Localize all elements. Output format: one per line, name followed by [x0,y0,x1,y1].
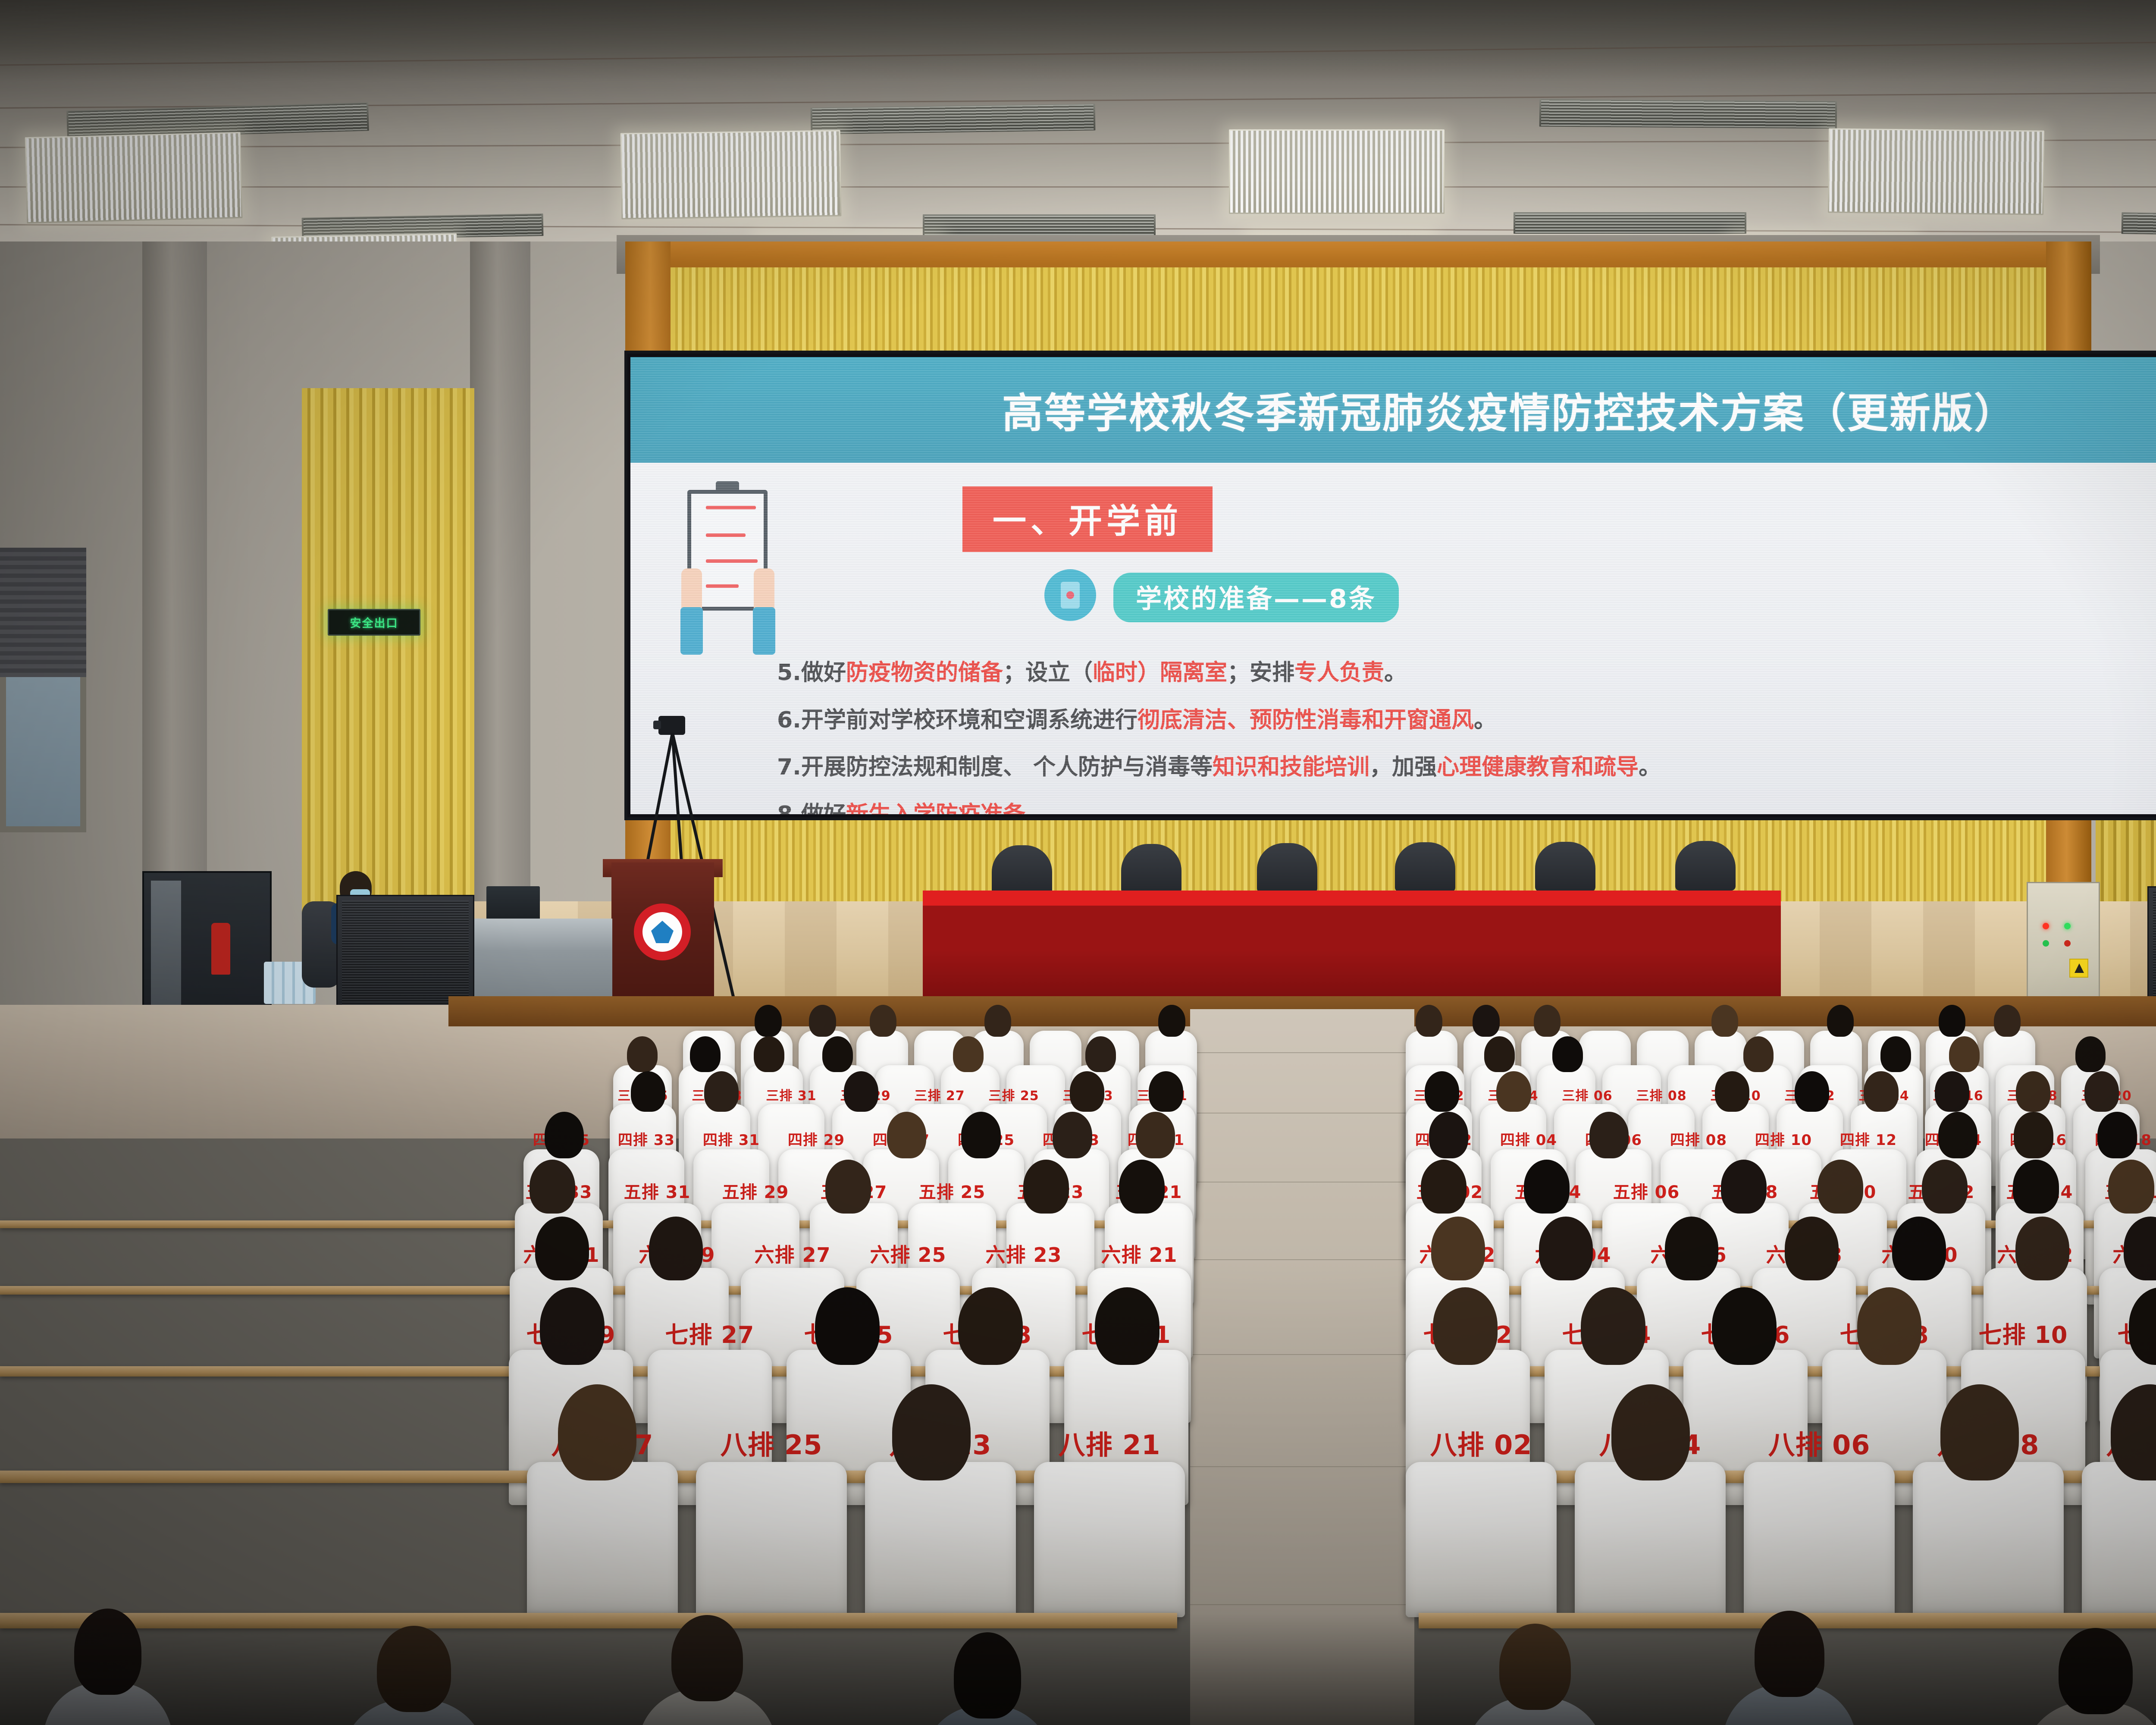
audience-member-head [2097,1112,2137,1159]
audience-member-head [1539,1217,1593,1280]
seat-number-label: 五排 25 [919,1178,986,1203]
ceiling-light [620,130,842,219]
audience-member-head [1589,1112,1629,1159]
audience-member-head [961,1112,1001,1159]
audience-member-head [754,1036,784,1073]
audience-member-head [1136,1112,1175,1159]
audience-member-head [1552,1036,1583,1073]
slide-bullet: 8.做好新生入学防疫准备。 [777,801,2156,814]
head-table-chair [1675,841,1736,891]
seat-number-label: 四排 29 [788,1128,845,1149]
audience-seat[interactable]: 八排 25 [696,1462,847,1617]
audience-member-head [892,1384,971,1480]
seat-number-label: 八排 06 [1768,1423,1871,1462]
slide-bullet-highlight: 临时）隔离室 [1093,660,1227,686]
audience-member-head [2014,1112,2053,1159]
seat-number-label: 五排 31 [624,1178,691,1203]
slide-bullet-text: ；安排 [1227,660,1294,686]
seat-number-label: 三排 31 [766,1085,816,1104]
seat-number-label: 三排 25 [988,1085,1039,1104]
seat-number-label: 三排 06 [1562,1085,1612,1104]
audience-member-head [1743,1036,1774,1073]
audience-member-head [1473,1005,1499,1037]
audience-member-head [690,1036,721,1073]
clipboard-line [706,559,758,563]
left-window-shade [0,548,86,677]
slide-bullet-highlight: 防疫物资的储备 [846,660,1003,686]
audience-member-head [1425,1071,1459,1112]
slide-bullet: 5.做好防疫物资的储备；设立（临时）隔离室；安排专人负责。 [777,659,2156,687]
audience-member-head [1935,1071,1969,1112]
audience-member-head [1611,1384,1690,1480]
audience-member-head [809,1005,836,1037]
audience-member-head [649,1217,703,1280]
seat-number-label: 四排 08 [1670,1128,1727,1149]
slide-bullet-highlight: 专人负责 [1294,660,1384,686]
audience-member-head [2084,1071,2119,1112]
audience-member-head [2108,1160,2154,1214]
audience-member-head [1416,1005,1442,1037]
slide-bullet-text: 做好 [801,660,846,686]
head-table [923,891,1781,998]
audience-member-head [1949,1036,1980,1073]
ceiling-vent [923,214,1156,236]
seat-number-label: 四排 12 [1840,1128,1897,1149]
audience-member-head [1431,1217,1485,1280]
audience-member-head [1023,1160,1069,1214]
audience-member-head [1785,1217,1839,1280]
audience-member-head [631,1071,665,1112]
audience-seat[interactable]: 八排 10 [2082,1462,2156,1617]
audience-member-head [1864,1071,1898,1112]
head-table-chair [1535,842,1595,891]
seat-number-label: 五排 29 [722,1178,789,1203]
audience-member-head [815,1287,880,1365]
audience-member-head [887,1112,927,1159]
seat-number-label: 四排 04 [1500,1128,1557,1149]
audience-member-head [1715,1071,1749,1112]
seat-number-label: 五排 06 [1613,1178,1680,1203]
audience-member-head [1524,1160,1570,1214]
audience-member-head [1994,1005,2021,1037]
audience-seat[interactable]: 八排 08 [1913,1462,2064,1617]
audience-member-head [825,1160,871,1214]
seat-number-label: 七排 27 [665,1316,755,1350]
audience-seat[interactable]: 八排 06 [1744,1462,1895,1617]
ceiling-light [1828,128,2044,215]
seat-number-label: 六排 25 [870,1239,946,1268]
slide-bullet-text: 开展防控法规和制度、 个人防护与消毒等 [801,754,1213,780]
head-table-chair [992,845,1052,895]
audience-member-head [1085,1036,1116,1073]
stage-backdrop-left [302,388,474,919]
electrical-hazard-icon [2069,959,2088,978]
clipboard-line [706,533,746,537]
slide-subsection-tag: 学校的准备——8条 [1113,573,1399,622]
audience-member-head [1095,1287,1159,1365]
slide-bullet-number: 6. [777,707,801,733]
ceiling [0,0,2156,254]
clipboard-illustration-icon [678,478,777,650]
exit-sign-left-label: 安全出口 [350,615,398,630]
audience-member-head [1119,1160,1165,1214]
seat-number-label: 四排 10 [1755,1128,1812,1149]
audience-member-head [535,1217,589,1280]
presentation-slide: 高等学校秋冬季新冠肺炎疫情防控技术方案（更新版） 一、开学前 学校的准备——8条… [630,357,2156,814]
seat-number-label: 七排 10 [1979,1316,2068,1350]
audience-member-head [1857,1287,1922,1365]
head-table-chair [1395,842,1455,892]
audience-member-head [844,1071,878,1112]
indicator-led-red [2043,923,2049,929]
seat-number-label: 八排 02 [1430,1423,1532,1462]
seat-number-label: 六排 21 [1101,1239,1177,1268]
ceiling-light [25,132,243,223]
seat-number-label: 八排 25 [721,1423,823,1462]
ceiling-vent [1539,99,1837,129]
audience-member-head [1053,1112,1092,1159]
seat-number-label: 三排 27 [914,1085,965,1104]
slide-title-bar: 高等学校秋冬季新冠肺炎疫情防控技术方案（更新版） [630,357,2156,463]
audience-member-head [1712,1287,1777,1365]
first-aid-kit-icon [1044,569,1096,621]
ceiling-shadow [0,0,2156,82]
audience-member-head [1892,1217,1946,1280]
foreground-shadow [0,1613,2156,1725]
slide-bullet-text: 。 [1384,660,1407,686]
audience-member-head [2013,1160,2059,1214]
audience-member-head [1496,1071,1531,1112]
audience-member-head [1534,1005,1561,1037]
slide-bullet-text: ；设立（ [1003,660,1093,686]
audience-member-head [530,1160,575,1214]
audience-seat[interactable]: 八排 02 [1406,1462,1557,1617]
audience-seat[interactable]: 八排 21 [1034,1462,1185,1617]
clipboard-line [706,584,739,588]
ceiling-light [1229,129,1445,214]
audience-member-head [958,1287,1023,1365]
slide-bullet-text: ，加强 [1369,754,1437,780]
exit-sign-left: 安全出口 [328,609,420,636]
slide-bullet-highlight: 知识和技能培训 [1213,754,1369,780]
slide-bullet-highlight: 新生入学防疫准备 [846,802,1025,814]
ceiling-vent [1514,212,1746,234]
audience-member-head [1149,1071,1183,1112]
video-camera-icon [658,716,685,735]
slide-bullet-highlight: 彻底清洁、预防性消毒和开窗通风 [1138,707,1474,733]
audience-member-head [1880,1036,1911,1073]
audience-member-head [1070,1071,1104,1112]
audience-member-head [984,1005,1011,1037]
indicator-led-red [2064,940,2071,947]
audience-member-head [1795,1071,1829,1112]
slide-bullet-number: 7. [777,754,801,780]
slide-bullet-text: 。 [1474,707,1496,733]
fire-extinguisher-icon [211,923,230,975]
audience-seat[interactable]: 八排 27 [527,1462,678,1617]
audience-member-head [1433,1287,1498,1365]
audience-member-head [1484,1036,1515,1073]
head-table-chair [1121,844,1181,894]
indicator-led-green [2043,940,2049,947]
audience-member-head [1721,1160,1767,1214]
slide-bullet-text: 开学前对学校环境和空调系统进行 [801,707,1138,733]
audience-member-head [953,1036,984,1073]
seat-number-label: 八排 21 [1059,1423,1161,1462]
slide-bullet-highlight: 心理健康教育和疏导 [1437,754,1639,780]
seat-number-label: 六排 23 [985,1239,1062,1268]
auditorium-scene: 高等学校秋冬季新冠肺炎疫情防控技术方案（更新版） 一、开学前 学校的准备——8条… [0,0,2156,1725]
slide-title: 高等学校秋冬季新冠肺炎疫情防控技术方案（更新版） [1002,380,2016,439]
audience-member-head [1940,1384,2019,1480]
audience-member-head [558,1384,636,1480]
audience-member-head [545,1112,584,1159]
head-table-chair [1257,843,1317,893]
slide-bullet-list: 5.做好防疫物资的储备；设立（临时）隔离室；安排专人负责。6.开学前对学校环境和… [777,659,2156,814]
institution-emblem-icon [634,903,691,960]
audience-member-head [1922,1160,1968,1214]
audience-member-head [704,1071,739,1112]
audience-member-head [1938,1112,1978,1159]
ceiling-vent [811,103,1096,134]
audience-member-head [1939,1005,1965,1037]
slide-bullet: 6.开学前对学校环境和空调系统进行彻底清洁、预防性消毒和开窗通风。 [777,706,2156,735]
clipboard-sleeve-icon [680,607,703,655]
audience-member-head [2016,1071,2050,1112]
ceiling-vent [2122,212,2156,237]
audience-member-head [1158,1005,1185,1037]
slide-section-heading: 一、开学前 [993,502,1182,541]
seat-number-label: 四排 31 [703,1128,760,1149]
slide-bullet: 7.开展防控法规和制度、 个人防护与消毒等知识和技能培训，加强心理健康教育和疏导… [777,753,2156,782]
slide-section-tag: 一、开学前 [962,486,1213,552]
slide-bullet-text: 。 [1639,754,1661,780]
clipboard-line [706,506,756,509]
audience-member-head [1827,1005,1854,1037]
audience-member-head [1421,1160,1467,1214]
clipboard-sleeve-icon [753,607,775,655]
audience-member-head [627,1036,658,1073]
slide-bullet-text: 做好 [801,802,846,814]
slide-bullet-number: 8. [777,802,801,814]
audience-member-head [2075,1036,2106,1073]
audience-member-head [1581,1287,1645,1365]
audience-member-head [822,1036,853,1073]
audience-member-head [2015,1217,2069,1280]
seat-number-label: 四排 33 [618,1128,675,1149]
slide-subsection-heading: 学校的准备——8条 [1136,584,1376,614]
audience-member-head [870,1005,896,1037]
audience-seat[interactable]: 八排 04 [1575,1462,1726,1617]
audience-member-head [540,1287,605,1365]
audience-seat[interactable]: 八排 23 [865,1462,1016,1617]
audience-member-head [1711,1005,1738,1037]
slide-bullet-number: 5. [777,660,801,686]
audience-member-head [755,1005,781,1037]
audience-member-head [1818,1160,1863,1214]
audience-member-head [1665,1217,1719,1280]
seat-number-label: 三排 08 [1636,1085,1686,1104]
fire-equipment-cabinet [142,871,272,1026]
indicator-led-green [2064,923,2071,929]
slide-bullet-text: 。 [1025,802,1048,814]
seat-number-label: 六排 27 [754,1239,830,1268]
audience-member-head [1429,1112,1469,1159]
